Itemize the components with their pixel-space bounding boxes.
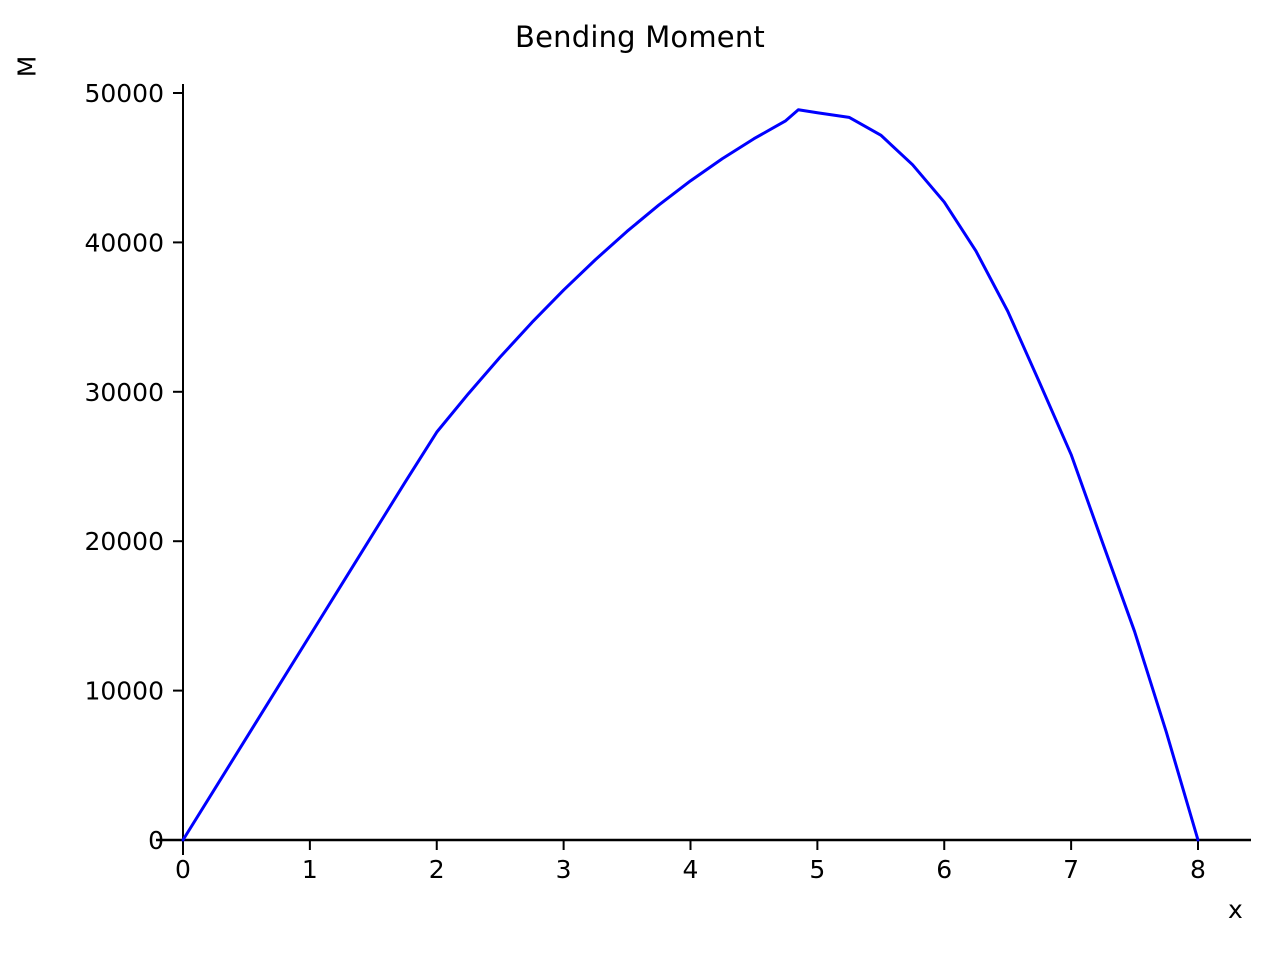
x-tick-label: 1 bbox=[302, 855, 318, 884]
bending-moment-curve bbox=[183, 110, 1198, 840]
x-tick-label: 8 bbox=[1190, 855, 1206, 884]
x-tick-label: 3 bbox=[556, 855, 572, 884]
y-tick-label: 30000 bbox=[84, 378, 164, 407]
figure-canvas: Bending Moment M x 010000200003000040000… bbox=[0, 0, 1280, 960]
y-axis-ticks: 01000020000300004000050000 bbox=[84, 79, 183, 855]
x-tick-label: 7 bbox=[1063, 855, 1079, 884]
axes bbox=[156, 84, 1251, 855]
x-tick-label: 0 bbox=[175, 855, 191, 884]
x-tick-label: 5 bbox=[809, 855, 825, 884]
x-tick-label: 6 bbox=[936, 855, 952, 884]
y-tick-label: 50000 bbox=[84, 79, 164, 108]
y-tick-label: 20000 bbox=[84, 527, 164, 556]
y-tick-label: 0 bbox=[148, 826, 164, 855]
plot-area: 01000020000300004000050000 012345678 bbox=[0, 0, 1280, 960]
y-tick-label: 10000 bbox=[84, 677, 164, 706]
x-tick-label: 4 bbox=[683, 855, 699, 884]
x-axis-ticks: 012345678 bbox=[175, 840, 1206, 884]
y-tick-label: 40000 bbox=[84, 228, 164, 257]
x-tick-label: 2 bbox=[429, 855, 445, 884]
